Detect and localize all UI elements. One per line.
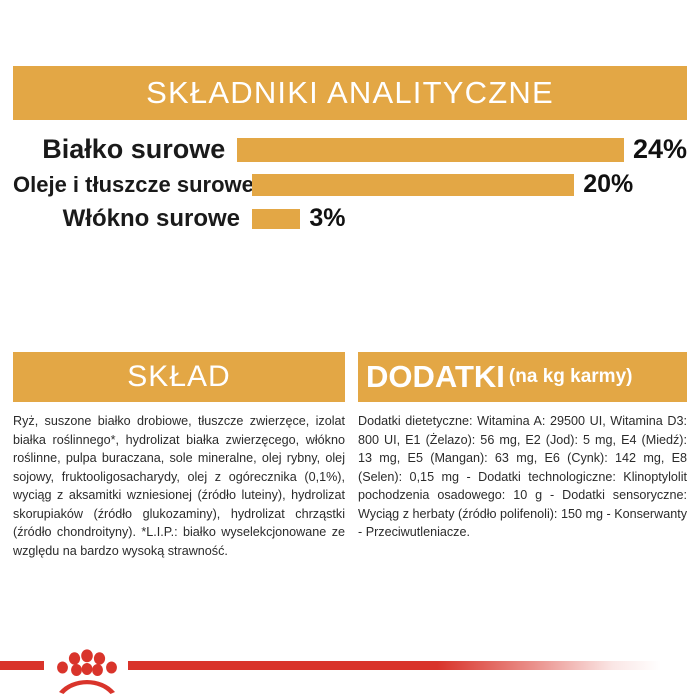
- additives-header: DODATKI (na kg karmy): [358, 352, 687, 402]
- analytical-constituents-chart: Białko surowe 24% Oleje i tłuszcze surow…: [13, 136, 687, 231]
- chart-row-label-crude-protein: Białko surowe: [13, 136, 237, 163]
- chart-value-crude-fats: 20%: [583, 172, 633, 197]
- chart-row: Włókno surowe 3%: [13, 206, 687, 231]
- additives-title: DODATKI: [366, 359, 505, 395]
- chart-value-crude-fibre: 3%: [309, 206, 345, 231]
- royal-canin-crown-icon: [48, 648, 126, 696]
- chart-bar-wrap: 24%: [237, 136, 687, 163]
- footer-rule-left: [0, 661, 44, 670]
- additives-subtitle: (na kg karmy): [509, 366, 633, 388]
- footer-rule-right: [128, 661, 661, 670]
- additives-body-text: Dodatki dietetyczne: Witamina A: 29500 U…: [358, 412, 687, 542]
- chart-row-label-crude-fibre: Włókno surowe: [13, 207, 252, 231]
- additives-panel: DODATKI (na kg karmy) Dodatki dietetyczn…: [350, 352, 700, 560]
- chart-bar-crude-protein: [237, 138, 624, 162]
- chart-bar-crude-fibre: [252, 209, 300, 229]
- analytical-constituents-header: SKŁADNIKI ANALITYCZNE: [13, 66, 687, 120]
- chart-row: Oleje i tłuszcze surowe 20%: [13, 172, 687, 197]
- info-panels: SKŁAD Ryż, suszone białko drobiowe, tłus…: [0, 352, 700, 560]
- chart-value-crude-protein: 24%: [633, 136, 687, 163]
- chart-row-label-crude-fats: Oleje i tłuszcze surowe: [13, 174, 252, 196]
- composition-panel: SKŁAD Ryż, suszone białko drobiowe, tłus…: [0, 352, 350, 560]
- chart-bar-crude-fats: [252, 174, 574, 196]
- analytical-constituents-title: SKŁADNIKI ANALITYCZNE: [146, 75, 554, 111]
- composition-title: SKŁAD: [127, 360, 230, 394]
- chart-bar-wrap: 20%: [252, 172, 687, 197]
- composition-header: SKŁAD: [13, 352, 345, 402]
- chart-row: Białko surowe 24%: [13, 136, 687, 163]
- footer-brand-bar: [0, 648, 700, 700]
- chart-bar-wrap: 3%: [252, 206, 687, 231]
- composition-body-text: Ryż, suszone białko drobiowe, tłuszcze z…: [13, 412, 345, 560]
